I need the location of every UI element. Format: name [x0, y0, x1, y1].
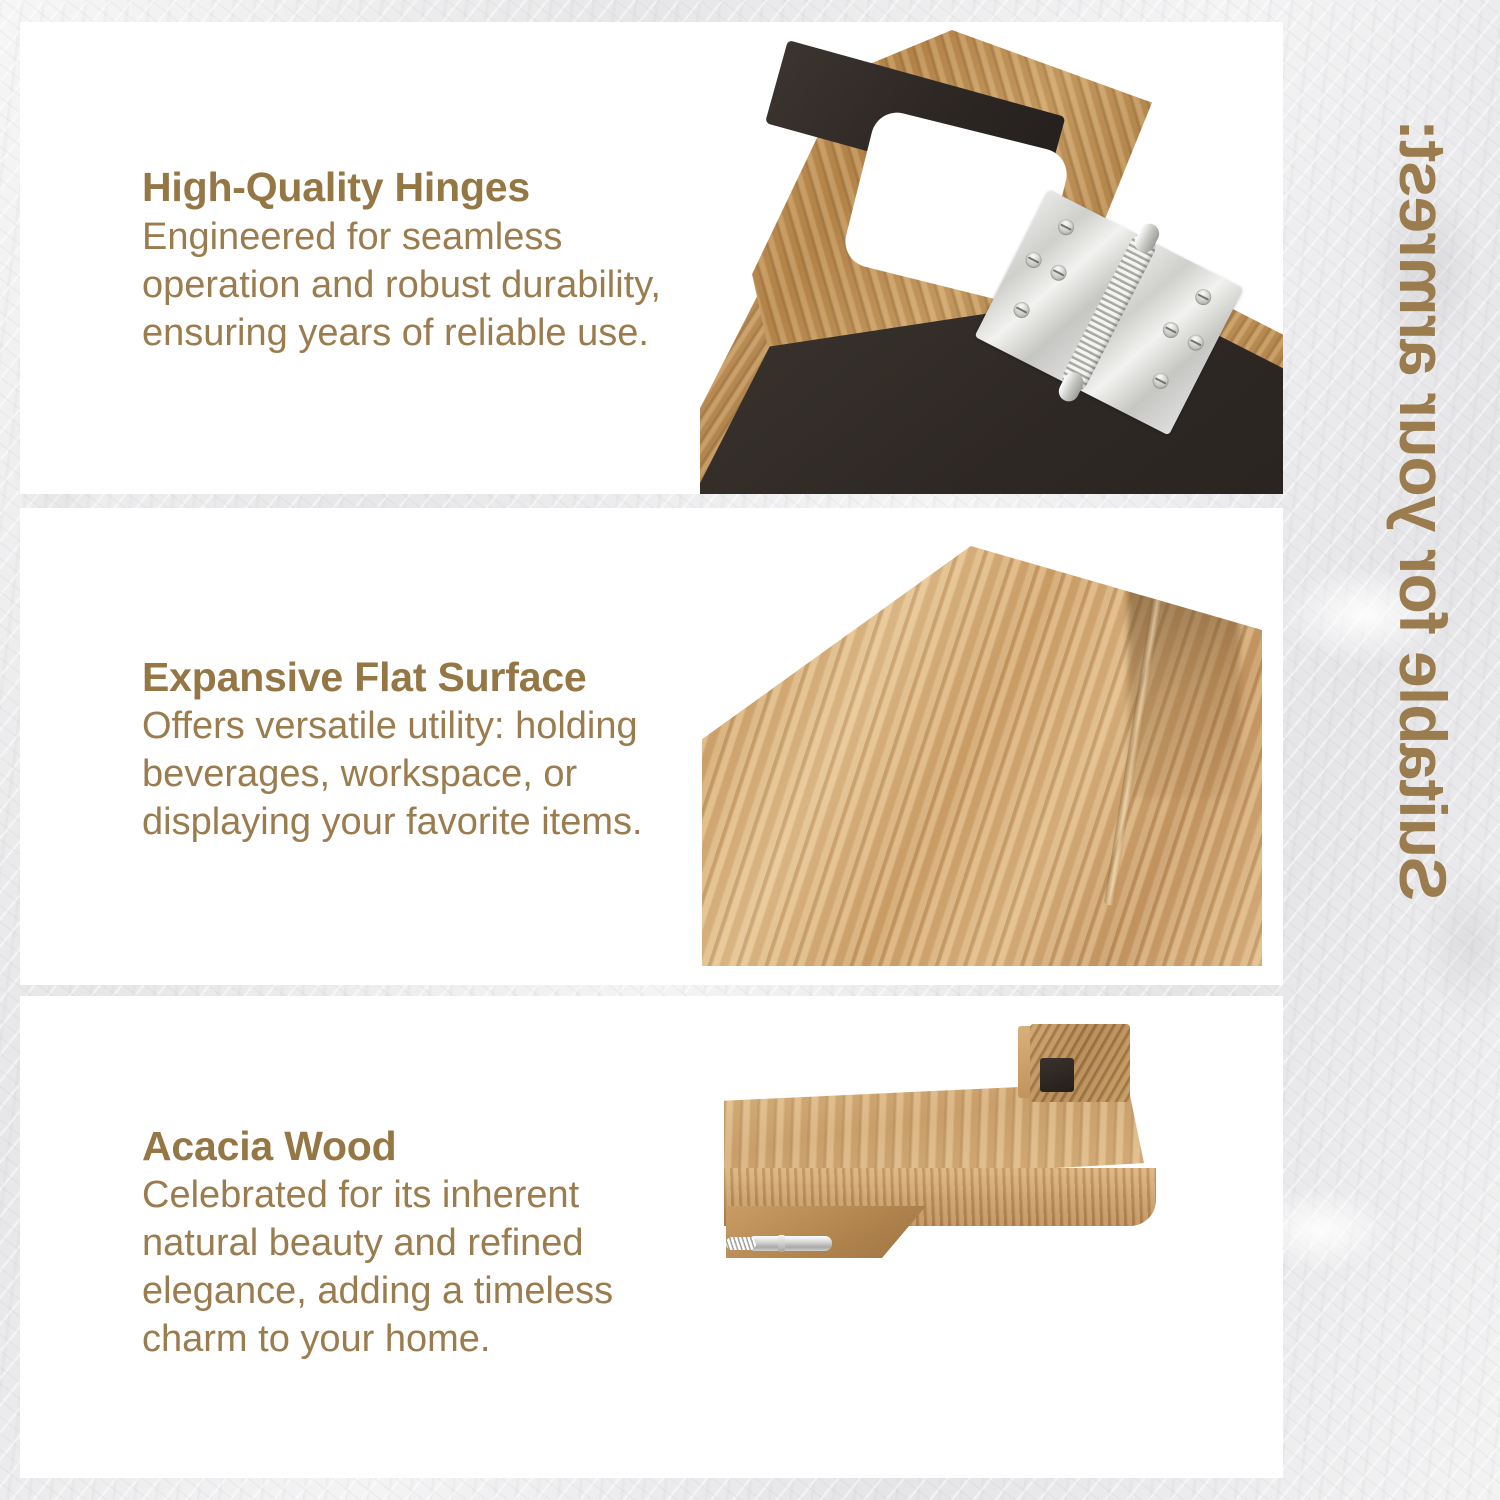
- feature-body: Engineered for seamless operation and ro…: [142, 214, 700, 358]
- feature-body: Celebrated for its inherent natural beau…: [142, 1172, 700, 1364]
- feature-body: Offers versatile utility: holding bevera…: [142, 703, 700, 847]
- feature-photo-acacia-profile: [700, 996, 1283, 1478]
- pin-threaded-tip: [726, 1237, 756, 1250]
- feature-card-acacia-wood: Acacia Wood Celebrated for its inherent …: [20, 996, 1283, 1478]
- side-headline: Suitable for your armrest:: [1390, 120, 1456, 1420]
- infographic-canvas: High-Quality Hinges Engineered for seaml…: [0, 0, 1500, 1500]
- feature-photo-hinge: [700, 22, 1283, 494]
- feature-card-high-quality-hinges: High-Quality Hinges Engineered for seaml…: [20, 22, 1283, 494]
- feature-title: High-Quality Hinges: [142, 166, 700, 209]
- pin-shaft: [748, 1236, 832, 1251]
- feature-text-block: High-Quality Hinges Engineered for seaml…: [20, 22, 700, 494]
- feature-title: Acacia Wood: [142, 1125, 700, 1168]
- tray-slot-cavity: [1040, 1058, 1074, 1092]
- feature-text-block: Expansive Flat Surface Offers versatile …: [20, 508, 700, 985]
- product-photo-folding-leg-hinge: [700, 22, 1283, 494]
- metal-pin-hinge: [726, 1236, 832, 1251]
- board-edge-highlight: [723, 508, 1144, 580]
- acacia-board-corner: [702, 546, 1262, 966]
- product-photo-side-profile: [700, 996, 1283, 1478]
- pin-collar: [778, 1235, 785, 1252]
- feature-card-expansive-flat-surface: Expansive Flat Surface Offers versatile …: [20, 508, 1283, 985]
- feature-text-block: Acacia Wood Celebrated for its inherent …: [20, 996, 700, 1478]
- feature-photo-flat-surface: [700, 508, 1283, 985]
- side-headline-text: Suitable for your armrest:: [1390, 120, 1456, 901]
- feature-title: Expansive Flat Surface: [142, 656, 700, 699]
- product-photo-tray-corner: [700, 508, 1283, 985]
